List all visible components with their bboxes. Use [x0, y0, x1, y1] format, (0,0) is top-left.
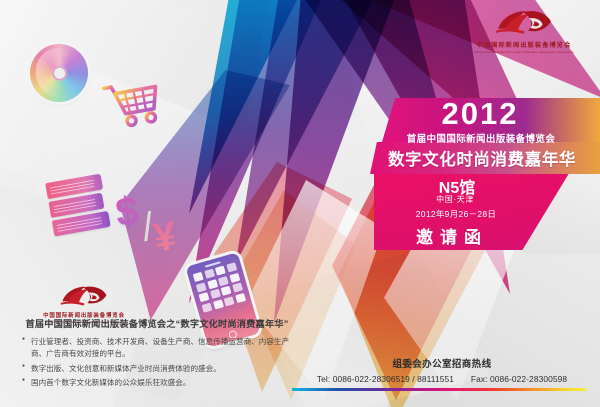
event-city: 中国·天津	[370, 194, 540, 205]
description-bullet-list: 行业管理者、投资商、技术开发商、设备生产商、信息传播运营商、内容生产商、广告商有…	[22, 336, 292, 389]
fax-number: Fax: 0086-022-28300598	[471, 374, 567, 384]
book-stack-icon	[45, 174, 111, 243]
dollar-yen-currency-icon: $/¥	[113, 181, 201, 269]
contact-block: 组委会办公室招商热线 Tel: 0086-022-28306519 / 8811…	[292, 356, 592, 391]
logo-cn-name: 中国国际新闻出版装备博览会	[462, 40, 586, 49]
event-year: 2012	[370, 98, 590, 129]
event-banner: 2012 首届中国国际新闻出版装备博览会 数字文化时尚消费嘉年华 N5馆 中国·…	[370, 98, 600, 250]
hotline-label: 组委会办公室招商热线	[292, 356, 592, 370]
cd-disc-icon	[30, 44, 88, 102]
list-item: 国内首个数字文化新媒体的公众娱乐狂欢盛会。	[22, 377, 292, 389]
logo-en-name: China International Press and Publicatio…	[467, 50, 581, 54]
description-block: 首届中国国际新闻出版装备博览会之“数字文化时尚消费嘉年华” 行业管理者、投资商、…	[22, 316, 292, 392]
shopping-cart-icon	[101, 73, 167, 134]
telephone-number: Tel: 0086-022-28306519 / 88111551	[317, 374, 454, 384]
event-dates: 2012年9月26－28日	[370, 208, 542, 220]
rainbow-divider	[292, 388, 586, 391]
header-logo: 中国国际新闻出版装备博览会 China International Press …	[462, 8, 586, 60]
invitation-label: 邀请函	[370, 223, 534, 248]
event-subtitle-small: 首届中国国际新闻出版装备博览会	[370, 131, 592, 145]
event-subtitle-large: 数字文化时尚消费嘉年华	[370, 146, 594, 170]
contact-numbers: Tel: 0086-022-28306519 / 88111551 Fax: 0…	[292, 374, 592, 384]
list-item: 行业管理者、投资商、技术开发商、设备生产商、信息传播运营商、内容生产商、广告商有…	[22, 336, 292, 360]
poster-canvas: 中国国际新闻出版装备博览会 China International Press …	[0, 0, 600, 407]
banner-text-group: 2012 首届中国国际新闻出版装备博览会 数字文化时尚消费嘉年华 N5馆 中国·…	[370, 98, 600, 250]
red-book-wave-icon	[492, 8, 556, 38]
description-headline: 首届中国国际新闻出版装备博览会之“数字文化时尚消费嘉年华”	[22, 316, 292, 330]
list-item: 数字出版、文化创意和新媒体产业时尚消费体验的盛会。	[22, 363, 292, 375]
red-book-wave-icon	[57, 284, 111, 309]
